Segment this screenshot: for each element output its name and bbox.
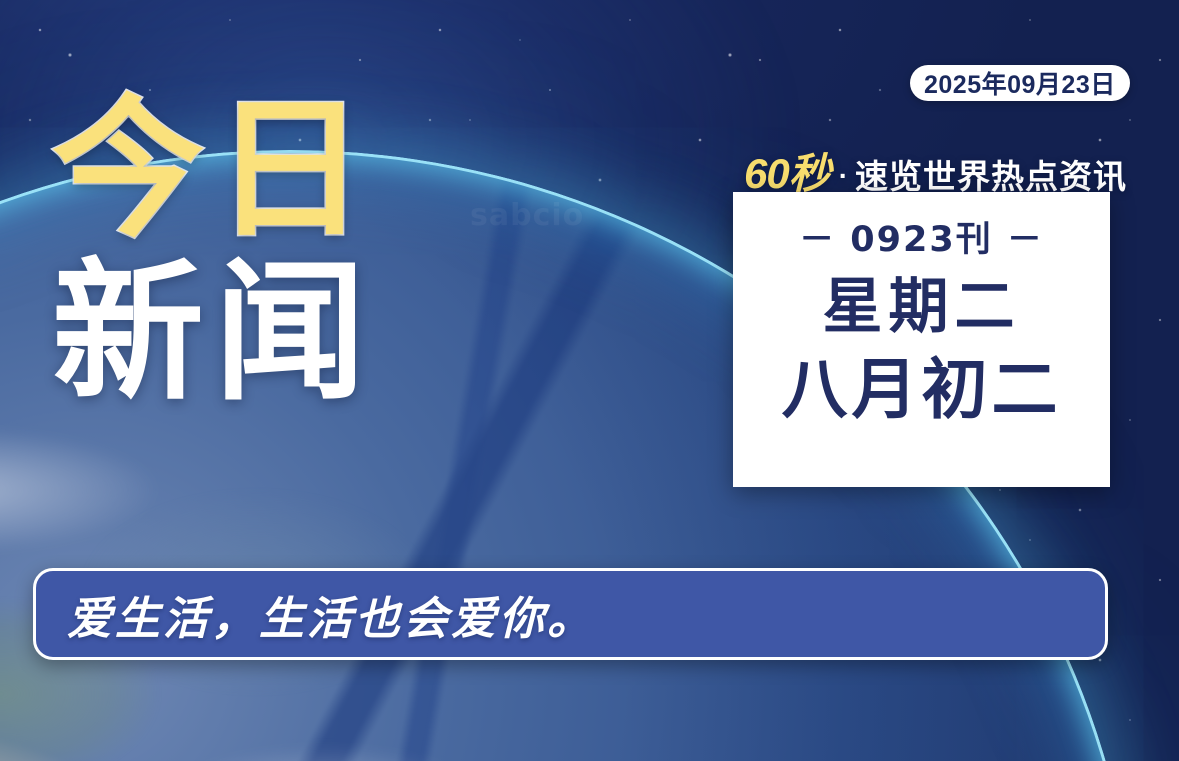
- title-line-jinri: 今日: [52, 96, 472, 245]
- news-poster: sabcio 今日 新闻 2025年09月23日 60秒 · 速览世界热点资讯 …: [0, 0, 1179, 761]
- poster-title: 今日 新闻: [52, 96, 472, 408]
- image-watermark: sabcio: [470, 198, 584, 233]
- tagline-description: 速览世界热点资讯: [855, 150, 1127, 198]
- weekday-label: 星期二: [823, 276, 1021, 339]
- title-line-xinwen: 新闻: [52, 259, 472, 408]
- date-badge: 2025年09月23日: [910, 65, 1130, 101]
- tagline-separator-dot: ·: [839, 160, 848, 192]
- lunar-date-label: 八月初二: [782, 355, 1062, 424]
- issue-number: － 0923刊 －: [799, 211, 1044, 262]
- date-info-card: － 0923刊 － 星期二 八月初二: [733, 192, 1110, 487]
- slogan-text: 爱生活，生活也会爱你。: [67, 582, 595, 647]
- slogan-banner: 爱生活，生活也会爱你。: [33, 568, 1108, 660]
